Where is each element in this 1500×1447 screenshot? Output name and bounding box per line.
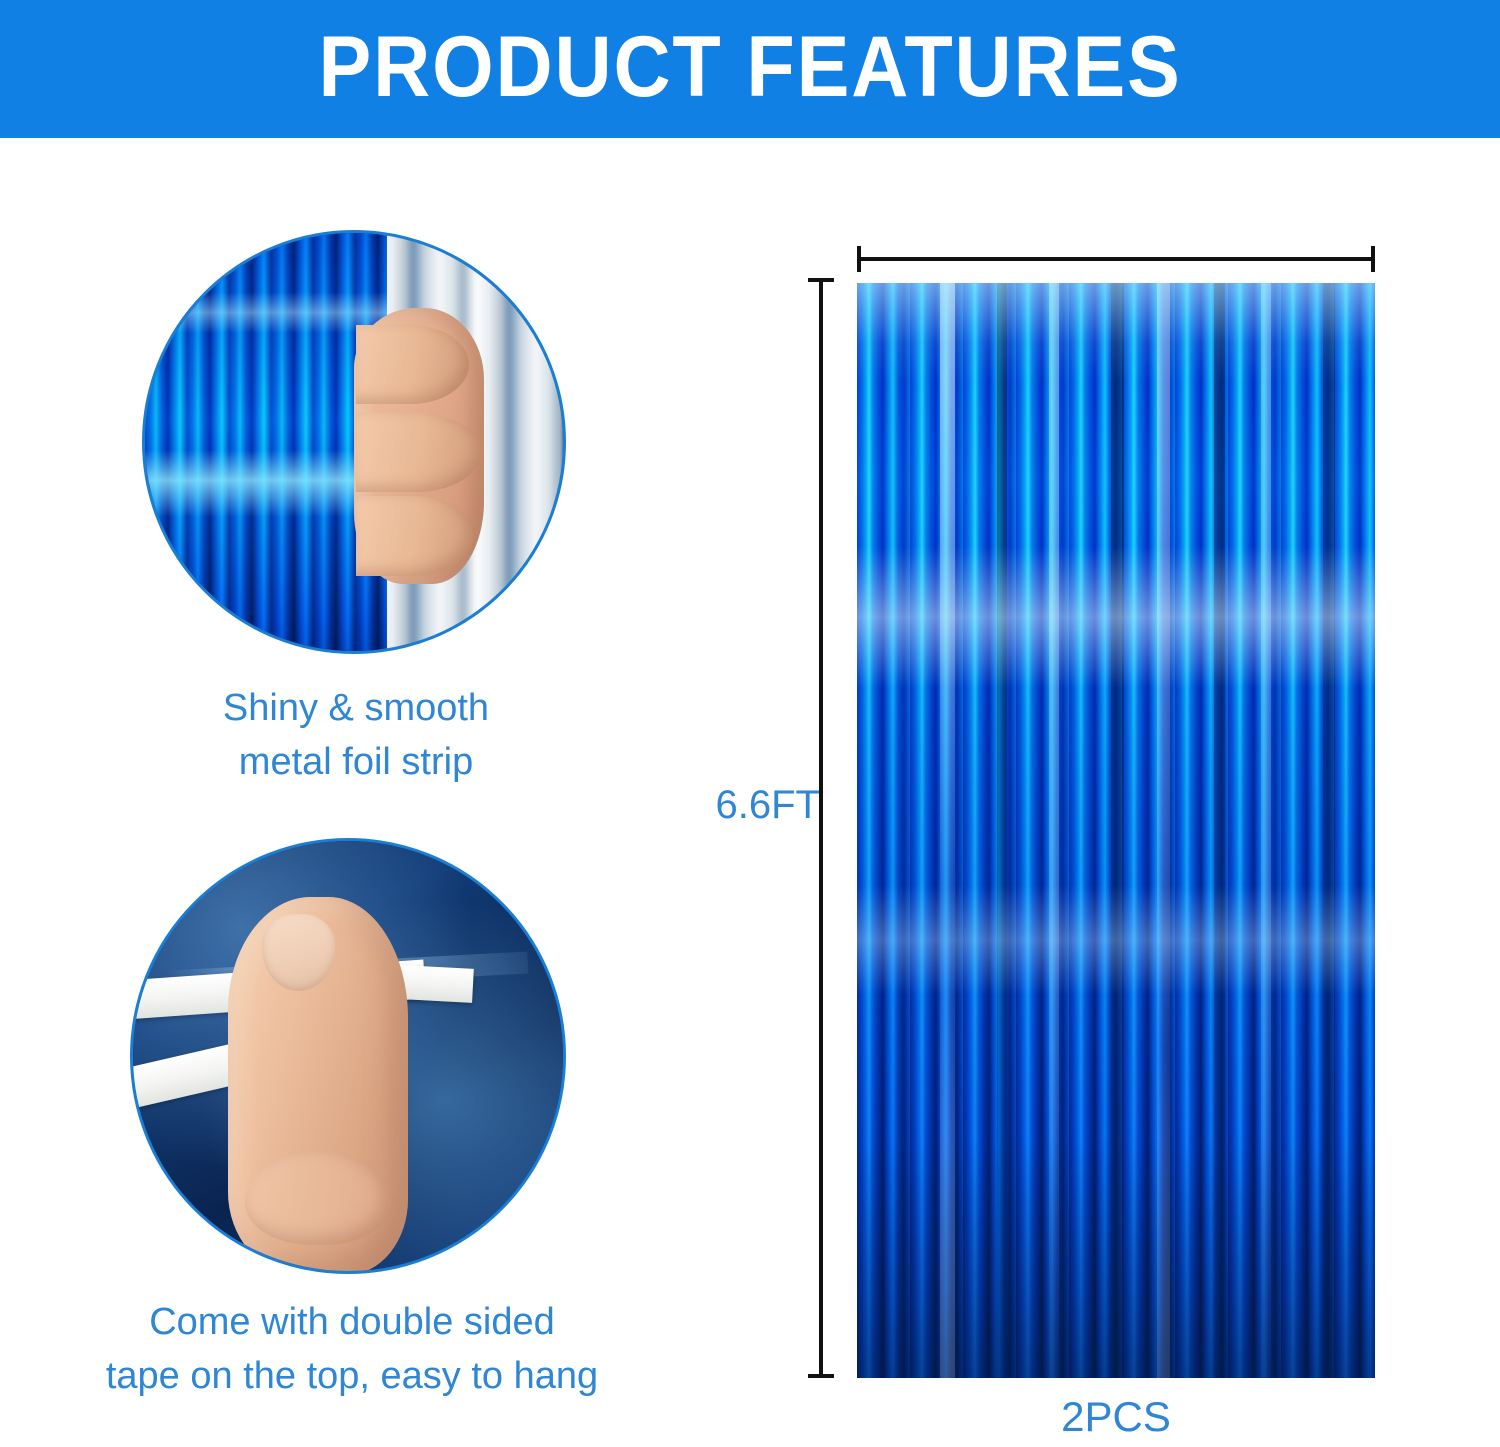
foil-bottom-shadow bbox=[857, 1137, 1375, 1378]
foil-strip-highlight bbox=[1261, 283, 1271, 1378]
foil-strips-closeup bbox=[145, 233, 387, 651]
foil-top-sheen bbox=[857, 283, 1375, 382]
header-banner: PRODUCT FEATURES bbox=[0, 0, 1500, 138]
page-title: PRODUCT FEATURES bbox=[318, 24, 1181, 110]
dimension-bar bbox=[857, 257, 1375, 261]
photo-content-shiny-foil bbox=[145, 233, 563, 651]
foil-glow-band bbox=[857, 885, 1375, 995]
foil-strip-highlight bbox=[1157, 283, 1170, 1378]
product-image-foil-curtain bbox=[857, 283, 1375, 1378]
feature-caption-shiny-foil: Shiny & smooth metal foil strip bbox=[0, 682, 700, 790]
caption-line: Come with double sided bbox=[4, 1296, 700, 1350]
caption-line: Shiny & smooth bbox=[12, 682, 700, 736]
feature-block-double-sided-tape: Come with double sided tape on the top, … bbox=[0, 838, 700, 1404]
foil-strip-highlight bbox=[940, 283, 956, 1378]
feature-caption-double-sided-tape: Come with double sided tape on the top, … bbox=[0, 1296, 700, 1404]
quantity-label: 2PCS bbox=[857, 1393, 1375, 1441]
dimension-end-cap bbox=[1371, 246, 1375, 272]
feature-block-shiny-foil: Shiny & smooth metal foil strip bbox=[0, 230, 700, 790]
foil-strip-highlight bbox=[1049, 283, 1059, 1378]
feature-photo-double-sided-tape bbox=[130, 838, 566, 1274]
photo-content-double-sided-tape bbox=[133, 841, 563, 1271]
finger-shape bbox=[356, 496, 473, 575]
foil-strip-dark bbox=[1214, 283, 1224, 1378]
height-dimension-line bbox=[808, 278, 834, 1378]
foil-strip-dark bbox=[1323, 283, 1334, 1378]
dimension-bar bbox=[819, 278, 823, 1378]
foil-glow-band bbox=[857, 546, 1375, 688]
width-dimension-line bbox=[857, 246, 1375, 272]
product-dimension-panel: 3.3FT 6.6FT 2PCS bbox=[660, 138, 1500, 1447]
feature-callouts-column: Shiny & smooth metal foil strip Come wit… bbox=[0, 138, 700, 1447]
caption-line: tape on the top, easy to hang bbox=[4, 1350, 700, 1404]
feature-photo-shiny-foil bbox=[142, 230, 566, 654]
height-dimension-label: 6.6FT bbox=[670, 783, 820, 828]
foil-strip-dark bbox=[997, 283, 1007, 1378]
dimension-end-cap bbox=[808, 1374, 834, 1378]
caption-line: metal foil strip bbox=[12, 736, 700, 790]
foil-strip-dark bbox=[1111, 283, 1124, 1378]
knuckle-shape bbox=[245, 1151, 391, 1246]
